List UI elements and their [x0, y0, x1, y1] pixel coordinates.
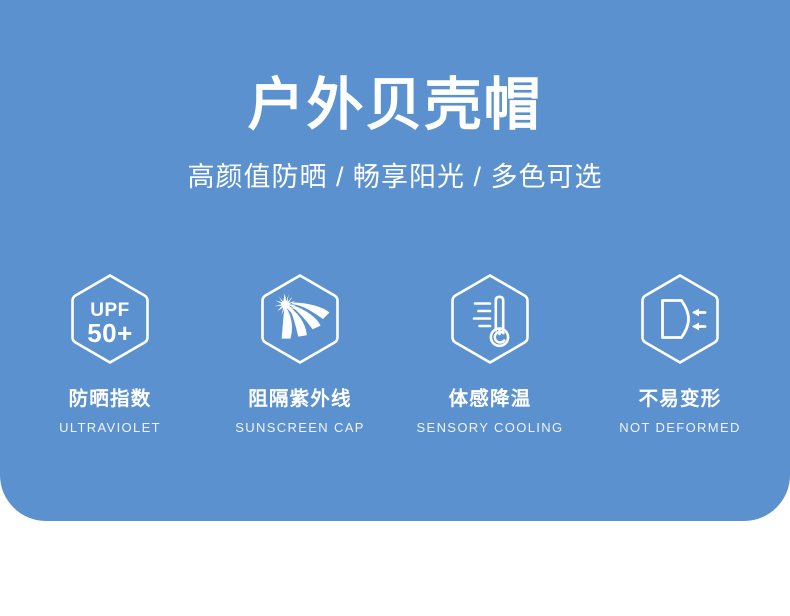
- feature-label-en: SENSORY COOLING: [417, 420, 564, 436]
- feature-label-cn: 体感降温: [449, 388, 532, 411]
- thermometer-hexagon-icon: [447, 272, 533, 366]
- sun-rays-hexagon-icon: [257, 272, 343, 366]
- feature-label-en: NOT DEFORMED: [619, 420, 740, 436]
- feature-item-cooling: 体感降温 SENSORY COOLING: [402, 272, 578, 436]
- product-banner: 户外贝壳帽 高颜值防晒 / 畅享阳光 / 多色可选 UPF 50+ 防晒指数 U…: [0, 0, 790, 616]
- feature-label-cn: 阻隔紫外线: [248, 388, 352, 411]
- deform-block-shape: [663, 301, 689, 338]
- heat-lines: [474, 304, 490, 327]
- arrow-heads: [692, 309, 699, 331]
- feature-label-en: ULTRAVIOLET: [59, 420, 161, 436]
- feature-label-cn: 防晒指数: [69, 388, 152, 411]
- ray-shapes: [282, 302, 330, 338]
- feature-label-en: SUNSCREEN CAP: [235, 420, 365, 436]
- feature-item-sunscreen: 阻隔紫外线 SUNSCREEN CAP: [212, 272, 388, 436]
- feature-list: UPF 50+ 防晒指数 ULTRAVIOLET: [0, 272, 790, 436]
- thermometer-shape: [491, 297, 508, 346]
- upf-icon-text-bottom: 50+: [87, 318, 133, 348]
- upf-50-hexagon-icon: UPF 50+: [67, 272, 153, 366]
- feature-item-ultraviolet: UPF 50+ 防晒指数 ULTRAVIOLET: [22, 272, 198, 436]
- page-title: 户外贝壳帽: [0, 72, 790, 139]
- compression-resistant-hexagon-icon: [637, 272, 723, 366]
- page-subtitle: 高颜值防晒 / 畅享阳光 / 多色可选: [0, 160, 790, 195]
- feature-label-cn: 不易变形: [639, 388, 722, 411]
- feature-item-not-deformed: 不易变形 NOT DEFORMED: [592, 272, 768, 436]
